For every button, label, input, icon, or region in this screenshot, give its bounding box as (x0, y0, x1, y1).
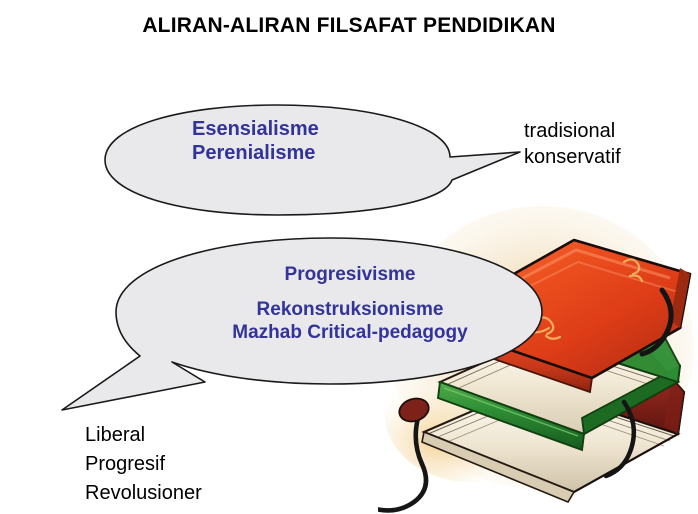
traditional-label-line-1: tradisional (524, 118, 621, 144)
traditional-schools-bubble[interactable]: Esensialisme Perenialisme (100, 100, 530, 220)
traditional-label-line-2: konservatif (524, 144, 621, 170)
progressive-label-line-1: Liberal (85, 421, 202, 450)
traditional-label: tradisional konservatif (524, 118, 621, 171)
progressive-label: Liberal Progresif Revolusioner (85, 421, 202, 508)
progressive-schools-bubble[interactable]: Progresivisme Rekonstruksionisme Mazhab … (50, 232, 550, 417)
page-title: ALIRAN-ALIRAN FILSAFAT PENDIDIKAN (0, 14, 698, 38)
progressive-label-line-2: Progresif (85, 450, 202, 479)
slide-canvas: ALIRAN-ALIRAN FILSAFAT PENDIDIKAN (0, 0, 698, 514)
progressive-label-line-3: Revolusioner (85, 479, 202, 508)
